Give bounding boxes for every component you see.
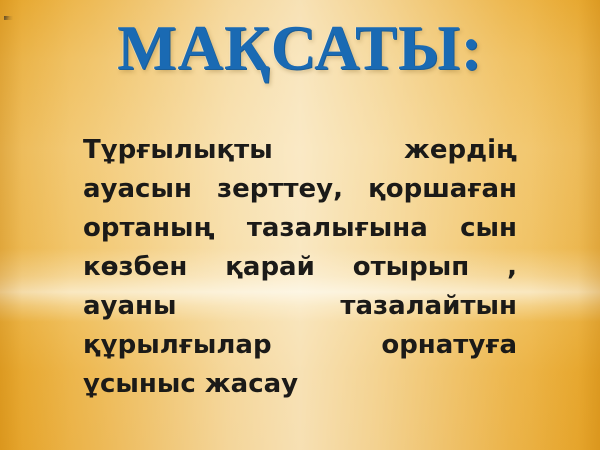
body-line: Тұрғылықтыжердің	[83, 131, 517, 170]
body-word: отырып	[353, 248, 470, 287]
presentation-slide: МАҚСАТЫ: Тұрғылықтыжердің ауасынзерттеу,…	[0, 0, 600, 450]
body-word: ауасын	[83, 170, 192, 209]
body-word: ,	[507, 248, 517, 287]
body-word: қарай	[225, 248, 315, 287]
stray-speck-artifact	[4, 16, 13, 20]
body-word: құрылғылар	[83, 326, 272, 365]
slide-title-container: МАҚСАТЫ:	[0, 14, 600, 82]
body-word: тазалығына	[247, 209, 428, 248]
body-word: жердің	[404, 131, 517, 170]
body-word: қоршаған	[368, 170, 517, 209]
body-line: ауанытазалайтын	[83, 287, 517, 326]
body-word: Тұрғылықты	[83, 131, 273, 170]
body-line: ауасынзерттеу,қоршаған	[83, 170, 517, 209]
body-word: орнатуға	[381, 326, 517, 365]
body-word: тазалайтын	[340, 287, 517, 326]
slide-body-text: Тұрғылықтыжердің ауасынзерттеу,қоршаған …	[83, 131, 517, 404]
body-word: зерттеу,	[217, 170, 343, 209]
slide-title: МАҚСАТЫ:	[117, 14, 483, 82]
body-word: көзбен	[83, 248, 187, 287]
body-word: ауаны	[83, 287, 177, 326]
body-word: сын	[460, 209, 517, 248]
body-line: көзбенқарайотырып,	[83, 248, 517, 287]
body-word: ортаның	[83, 209, 215, 248]
body-line: ортаныңтазалығынасын	[83, 209, 517, 248]
body-line: құрылғыларорнатуға	[83, 326, 517, 365]
body-line: ұсыныс жасау	[83, 365, 517, 404]
